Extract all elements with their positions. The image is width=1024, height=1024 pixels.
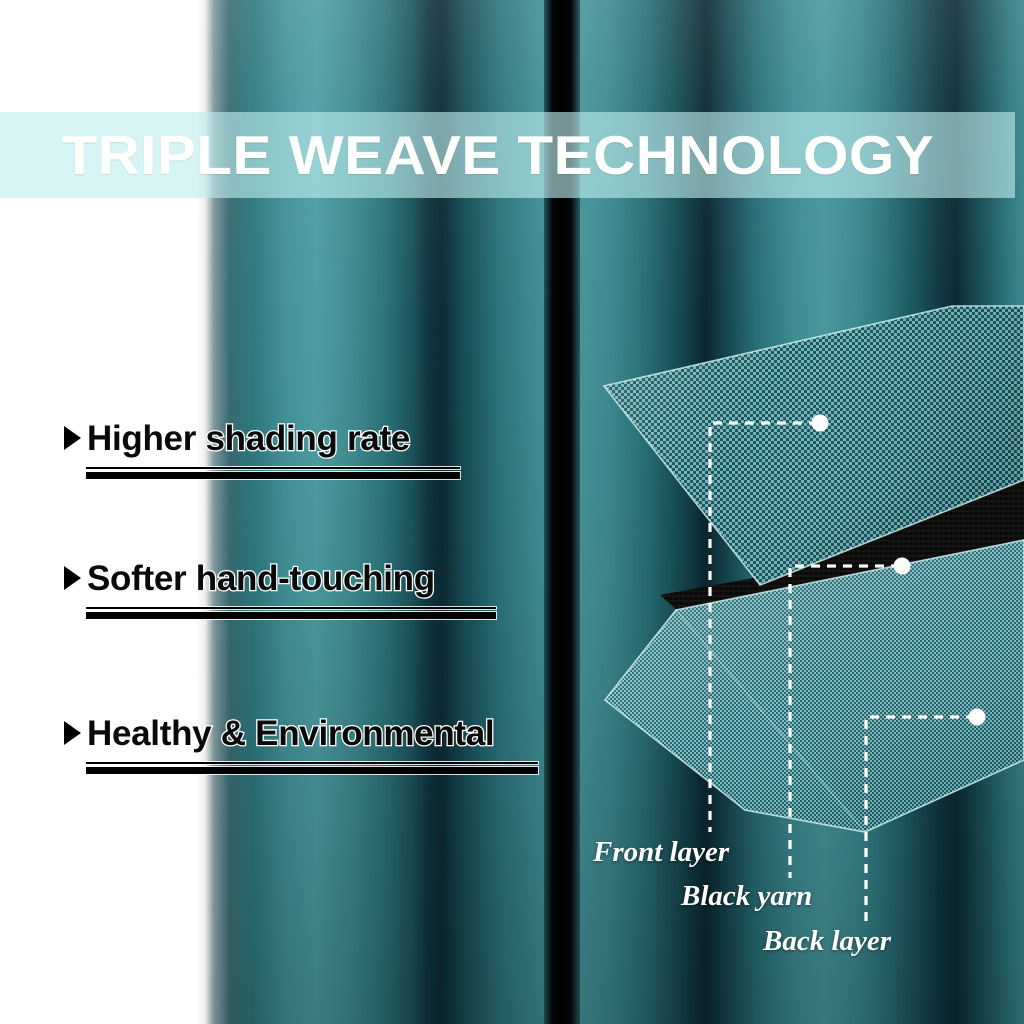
- feature-label: Healthy & Environmental: [87, 716, 494, 753]
- feature-label: Softer hand-touching: [87, 561, 435, 598]
- feature-item-higher-shading-rate: Higher shading rate: [64, 421, 460, 479]
- triangle-right-icon: [64, 721, 81, 745]
- feature-underline: [86, 467, 460, 479]
- underline-thick: [86, 472, 460, 479]
- underline-thin: [86, 467, 460, 469]
- diagram-label-front-layer: Front layer: [593, 838, 729, 867]
- triangle-right-icon: [64, 566, 81, 590]
- feature-underline: [86, 762, 538, 774]
- feature-item-softer-hand-touching: Softer hand-touching: [64, 561, 496, 619]
- feature-underline: [86, 607, 496, 619]
- feature-item-healthy-environmental: Healthy & Environmental: [64, 716, 538, 774]
- feature-label: Higher shading rate: [87, 421, 410, 458]
- underline-thin: [86, 762, 538, 764]
- diagram-label-back-layer: Back layer: [763, 927, 891, 956]
- page-title: TRIPLE WEAVE TECHNOLOGY: [0, 128, 934, 183]
- underline-thick: [86, 767, 538, 774]
- underline-thin: [86, 607, 496, 609]
- product-infographic: TRIPLE WEAVE TECHNOLOGY Higher shading r…: [0, 0, 1024, 1024]
- triangle-right-icon: [64, 426, 81, 450]
- underline-thick: [86, 612, 496, 619]
- diagram-label-black-yarn: Black yarn: [681, 882, 812, 911]
- title-banner: TRIPLE WEAVE TECHNOLOGY: [0, 112, 1015, 198]
